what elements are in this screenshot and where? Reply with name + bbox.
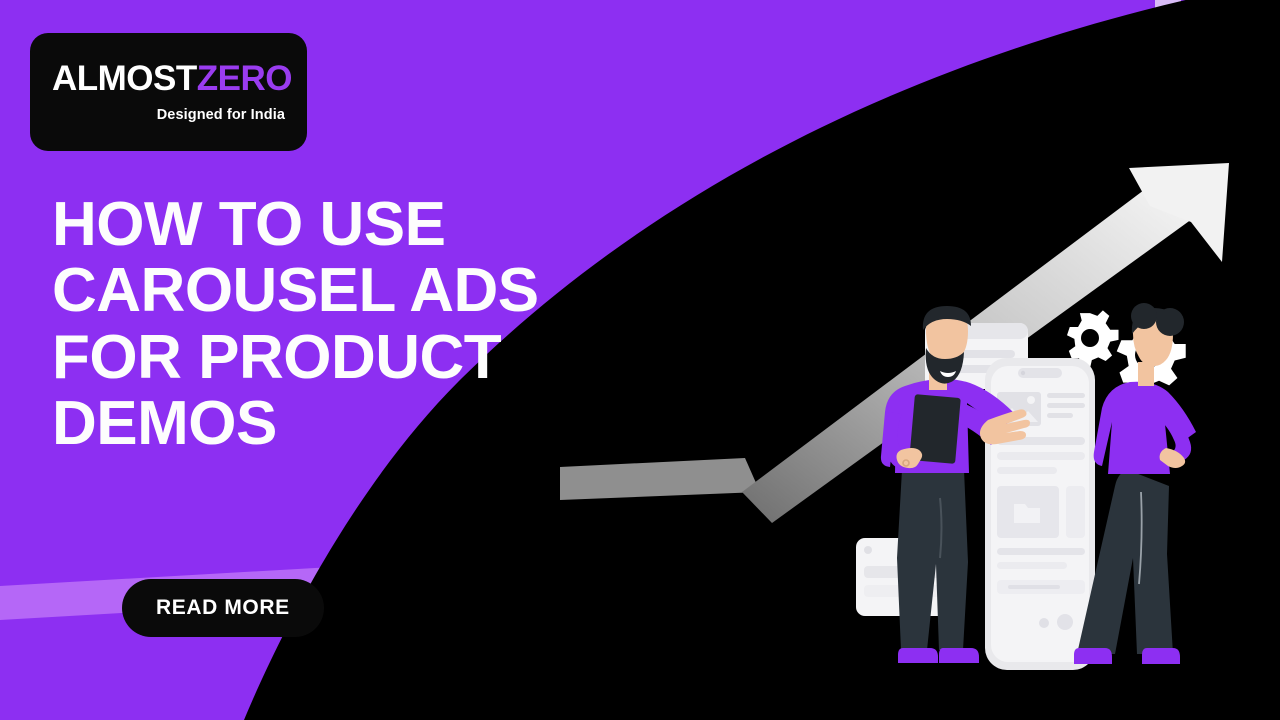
brand-tagline: Designed for India: [52, 107, 285, 123]
brand-logo-badge[interactable]: ALMOSTZERO Designed for India: [30, 33, 307, 151]
read-more-button[interactable]: READ MORE: [122, 579, 324, 637]
brand-name-secondary: ZERO: [197, 59, 292, 98]
poster-canvas: ALMOSTZERO Designed for India How to use…: [0, 0, 1280, 720]
brand-name-primary: ALMOST: [52, 59, 197, 98]
brand-wordmark: ALMOSTZERO: [52, 61, 285, 96]
page-title: How to use carousel ads for product demo…: [52, 192, 662, 457]
